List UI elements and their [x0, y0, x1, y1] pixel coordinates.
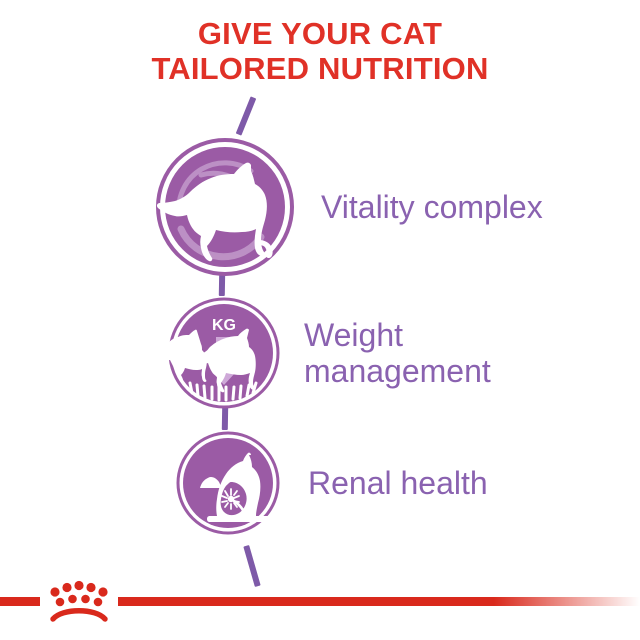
dashed-connector-bottom	[243, 545, 260, 587]
dashed-connector-top	[236, 96, 257, 135]
walking-cat-icon	[155, 137, 295, 277]
brand-bar-left	[0, 597, 40, 606]
royal-canin-crown-logo	[44, 578, 114, 622]
feature-row-renal-health: Renal health	[176, 431, 488, 535]
badge-text-kg: KG	[212, 317, 236, 334]
feature-label-vitality-complex: Vitality complex	[321, 189, 543, 225]
page-title-line-2: TAILORED NUTRITION	[0, 51, 640, 86]
feature-label-weight-management: Weight management	[304, 317, 491, 389]
cat-weight-scale-icon: KG	[168, 297, 280, 409]
feature-label-renal-health: Renal health	[308, 465, 488, 501]
cat-kidney-icon	[176, 431, 280, 535]
feature-row-vitality-complex: Vitality complex	[155, 137, 543, 277]
brand-bar-right	[118, 597, 640, 606]
feature-row-weight-management: KG Weight management	[168, 297, 491, 409]
poster-canvas: GIVE YOUR CAT TAILORED NUTRITION Vitalit…	[0, 0, 640, 640]
dashed-connector-two-to-three	[222, 406, 228, 430]
page-title-line-1: GIVE YOUR CAT	[0, 16, 640, 51]
page-title: GIVE YOUR CAT TAILORED NUTRITION	[0, 16, 640, 86]
